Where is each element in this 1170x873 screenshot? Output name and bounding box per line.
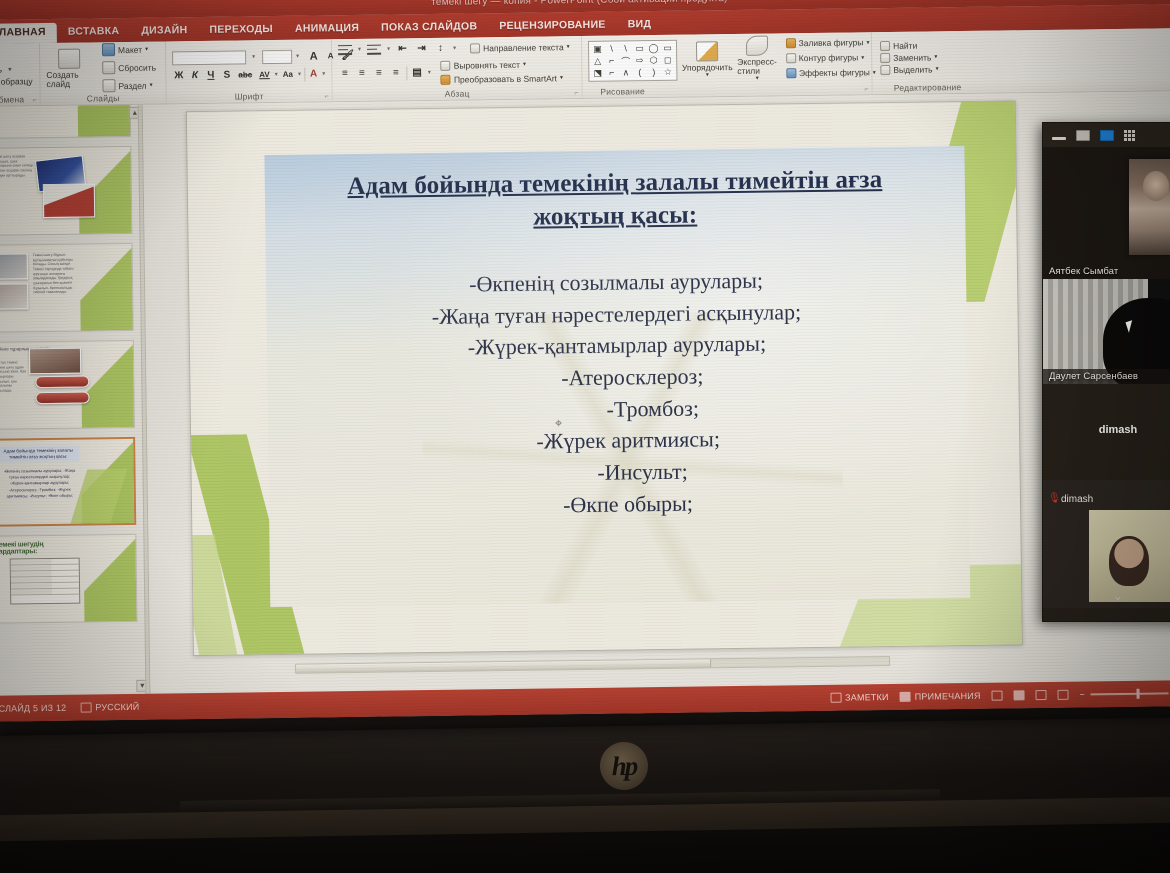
format-painter-button[interactable]: Формат по образцу: [0, 75, 35, 88]
thumb-body: Бір тал темекі Темекі шегу адам ағзасына…: [0, 360, 30, 393]
thumb-image-fingers: [29, 348, 81, 375]
font-size-input[interactable]: [262, 49, 292, 63]
comments-icon: [900, 692, 911, 702]
comments-button[interactable]: ПРИМЕЧАНИЯ: [900, 691, 981, 702]
thumb-body: Темекі шегу Мұрын-жұтқыншақтың қабынуы б…: [33, 253, 77, 296]
select-icon: [880, 64, 890, 74]
layout-icon: [102, 43, 115, 56]
arrange-icon: [696, 41, 718, 61]
view-reading-icon[interactable]: [1036, 690, 1047, 700]
align-center-icon[interactable]: ≡: [355, 66, 368, 80]
current-slide[interactable]: Адам бойында темекінің залалы тимейтін а…: [186, 100, 1023, 656]
numbering-icon[interactable]: [367, 43, 381, 55]
shape-arc-icon[interactable]: ⌐: [605, 68, 618, 79]
photo-of-laptop-screen: hp темекі шегу — копия - PowerPoint (Сбо…: [0, 0, 1170, 873]
group-label-editing: Редактирование: [873, 82, 983, 93]
participant-name-3: dimash: [1043, 424, 1170, 436]
font-name-input[interactable]: [172, 50, 246, 65]
reset-button[interactable]: Сбросить: [100, 60, 158, 76]
shape-oval-icon[interactable]: ◯: [647, 43, 660, 54]
slide-counter: СЛАЙД 5 ИЗ 12: [0, 703, 66, 714]
tab-slideshow[interactable]: ПОКАЗ СЛАЙДОВ: [370, 17, 488, 39]
layout-button[interactable]: Макет▾: [100, 42, 158, 58]
chevron-down-icon[interactable]: ⌄: [1043, 588, 1170, 604]
ribbon-group-font[interactable]: ▾ ▾ A A 🖌 Ж К Ч S abc AV ▾ Aa ▾: [166, 39, 333, 103]
thumb-image-stomach: [43, 183, 95, 218]
view-normal-icon[interactable]: [992, 691, 1003, 701]
underline-button[interactable]: Ч: [204, 68, 217, 82]
participant-tile-4[interactable]: 🎙 dimash ⌄: [1043, 480, 1170, 608]
view-slideshow-icon[interactable]: [1058, 690, 1069, 700]
tab-insert[interactable]: ВСТАВКА: [57, 22, 131, 43]
ribbon-group-editing[interactable]: Найти Заменить▾ Выделить▾ Редактирование: [872, 31, 983, 94]
grow-font-button[interactable]: A: [307, 49, 320, 63]
thumb-title: темекі шегудің зардаптары:: [0, 541, 86, 556]
shape-star-icon[interactable]: ☆: [661, 67, 674, 78]
arrange-button[interactable]: Упорядочить▾: [684, 41, 730, 79]
participant-name-1: Аятбек Сымбат: [1043, 264, 1124, 279]
font-dialog-launcher[interactable]: ⌐: [325, 93, 329, 100]
tab-home[interactable]: ГЛАВНАЯ: [0, 23, 57, 44]
thumb-image-lungs-2: [0, 283, 28, 309]
copy-button[interactable]: Копировать: [0, 63, 4, 76]
columns-icon[interactable]: ▤: [406, 66, 424, 80]
participant-name-2: Даулет Сарсенбаев: [1043, 369, 1170, 384]
align-right-icon[interactable]: ≡: [372, 66, 385, 80]
thumbnail-slide-6[interactable]: темекі шегудің зардаптары:: [0, 534, 138, 624]
zoom-track[interactable]: [1090, 692, 1168, 695]
thumb-decor-wedge: [77, 105, 130, 137]
quick-styles-button[interactable]: Экспресс-стили▾: [737, 36, 777, 83]
tab-transitions[interactable]: ПЕРЕХОДЫ: [198, 20, 284, 41]
section-icon: [102, 79, 115, 92]
find-button[interactable]: Найти: [878, 39, 919, 52]
drawing-dialog-launcher[interactable]: ⌐: [864, 86, 868, 93]
participant-video-1: [1129, 159, 1170, 255]
shape-freeform-icon[interactable]: ⬔: [591, 68, 604, 79]
align-left-icon[interactable]: ≡: [338, 67, 351, 81]
participant-tile-2[interactable]: Даулет Сарсенбаев: [1043, 279, 1170, 384]
character-spacing-button[interactable]: AV: [257, 68, 272, 82]
grid-view-icon[interactable]: [1124, 130, 1135, 141]
notes-icon: [830, 693, 841, 703]
italic-button[interactable]: К: [188, 68, 201, 82]
zoom-slider[interactable]: − +: [1080, 688, 1170, 699]
minimize-icon[interactable]: [1052, 137, 1066, 140]
video-conference-panel[interactable]: Аятбек Сымбат Даулет Сарсенбаев dimash 🎙…: [1042, 122, 1170, 622]
thumb-decor-wedge: [80, 244, 133, 331]
shape-outline-button[interactable]: Контур фигуры▾: [784, 52, 878, 65]
find-icon: [880, 40, 890, 50]
thumb-title: Адам бойында темекінің залалы тимейтін а…: [0, 446, 79, 463]
language-indicator[interactable]: РУССКИЙ: [80, 702, 139, 713]
thumb-image-artery-2: [35, 391, 89, 404]
video-panel-toolbar[interactable]: [1043, 123, 1170, 147]
participant-name-4: dimash: [1061, 494, 1093, 505]
shape-curve-icon[interactable]: ⌒: [619, 55, 632, 66]
thumb-body: -Өкпенің созылмалы аурулары; -Жаңа туған…: [1, 468, 77, 500]
shape-rect-icon[interactable]: ▭: [633, 43, 646, 54]
shape-angle-icon[interactable]: ∧: [619, 67, 632, 78]
shape-fill-icon: [785, 39, 795, 49]
font-color-button[interactable]: A: [304, 67, 319, 81]
shape-textbox-icon[interactable]: ▣: [591, 44, 604, 55]
decrease-indent-icon[interactable]: ⇤: [396, 42, 409, 56]
clipboard-dialog-launcher[interactable]: ⌐: [33, 97, 37, 104]
align-text-icon: [441, 60, 451, 70]
bullets-icon[interactable]: [338, 44, 352, 56]
quick-styles-icon: [746, 36, 768, 56]
thumb-body: Темекі шегу асқазан жарасына, ішек аурул…: [0, 154, 35, 178]
justify-icon[interactable]: ≡: [389, 66, 402, 80]
shape-effects-icon: [786, 69, 796, 79]
slide-bullet-list[interactable]: -Өкпенің созылмалы аурулары; -Жаңа туған…: [278, 262, 957, 524]
shape-arrow-right-icon[interactable]: ⇨: [633, 55, 646, 66]
shape-triangle-icon[interactable]: △: [591, 56, 604, 67]
zoom-knob[interactable]: [1136, 689, 1139, 699]
laptop-screen: темекі шегу — копия - PowerPoint (Сбой а…: [0, 0, 1170, 722]
text-direction-button[interactable]: Направление текста▾: [468, 41, 572, 54]
thumbnail-slide-2[interactable]: Темекі шегу асқазан жарасына, ішек аурул…: [0, 146, 132, 236]
shape-effects-button[interactable]: Эффекты фигуры▾: [784, 67, 878, 80]
shape-fill-button[interactable]: Заливка фигуры▾: [783, 37, 877, 50]
thumbnail-slide-4[interactable]: Зейінге тұрарлық эсерлері: Бір тал темек…: [0, 340, 135, 430]
change-case-button[interactable]: Aa: [281, 67, 295, 81]
notes-button[interactable]: ЗАМЕТКИ: [830, 692, 889, 703]
select-button[interactable]: Выделить▾: [878, 63, 940, 76]
replace-icon: [880, 52, 890, 62]
slide-title[interactable]: Адам бойында темекінің залалы тимейтін а…: [273, 162, 958, 237]
workspace: Қарағанды мемлекеттік медицина университ…: [0, 91, 1170, 696]
smartart-icon: [441, 74, 451, 84]
shape-paren-right-icon[interactable]: ): [647, 67, 660, 78]
group-label-slides: Слайды: [41, 92, 166, 104]
text-direction-icon: [470, 43, 480, 53]
shape-arrow-icon[interactable]: \: [619, 43, 632, 54]
ribbon-group-drawing[interactable]: ▣ \ \ ▭ ◯ ▭ △ ⌐ ⌒ ⇨ ⬡ ◻ ⬔ ⌐ ∧: [582, 32, 873, 98]
tab-review[interactable]: РЕЦЕНЗИРОВАНИЕ: [488, 16, 617, 38]
speaker-view-icon[interactable]: [1100, 130, 1114, 141]
mic-muted-icon: 🎙: [1048, 494, 1056, 504]
zoom-out-button[interactable]: −: [1080, 689, 1086, 699]
single-view-icon[interactable]: [1076, 130, 1090, 141]
thumb-table: [10, 558, 81, 605]
reset-icon: [102, 61, 115, 74]
replace-button[interactable]: Заменить▾: [878, 51, 939, 64]
thumbnail-slide-3[interactable]: Темекі шегу Мұрын-жұтқыншақтың қабынуы б…: [0, 243, 134, 333]
window-title: темекі шегу — копия - PowerPoint (Сбой а…: [431, 0, 727, 7]
shape-outline-icon: [786, 54, 796, 64]
shape-paren-left-icon[interactable]: (: [633, 67, 646, 78]
thumbnail-slide-5[interactable]: Адам бойында темекінің залалы тимейтін а…: [0, 437, 136, 527]
ribbon-group-clipboard[interactable]: Вставить Копировать▾ Формат по образцу Б…: [0, 43, 41, 106]
convert-smartart-button[interactable]: Преобразовать в SmartArt▾: [439, 72, 565, 86]
mouse-cursor-icon: ⌖: [555, 415, 565, 429]
align-text-button[interactable]: Выровнять текст▾: [439, 58, 565, 72]
thumb-image-lungs-1: [0, 253, 28, 279]
slide-title-line-1: Адам бойында темекінің залалы тимейтін а…: [347, 166, 882, 200]
shapes-gallery[interactable]: ▣ \ \ ▭ ◯ ▭ △ ⌐ ⌒ ⇨ ⬡ ◻ ⬔ ⌐ ∧: [588, 40, 678, 82]
view-sorter-icon[interactable]: [1014, 690, 1025, 700]
shape-pentagon-icon[interactable]: ⬡: [647, 55, 660, 66]
shape-square-icon[interactable]: ▭: [661, 43, 674, 54]
tab-animations[interactable]: АНИМАЦИЯ: [284, 19, 370, 40]
slide-content-area[interactable]: Адам бойында темекінің залалы тимейтін а…: [264, 146, 970, 607]
bold-button[interactable]: Ж: [172, 69, 185, 83]
ribbon-group-slides[interactable]: Создать слайд Макет▾ Сбросить: [40, 41, 167, 105]
thumb-image-artery-1: [35, 375, 89, 388]
horizontal-scrollbar[interactable]: [295, 656, 890, 674]
section-button[interactable]: Раздел▾: [100, 78, 158, 94]
tab-design[interactable]: ДИЗАЙН: [130, 21, 198, 42]
shape-callout-icon[interactable]: ◻: [661, 55, 674, 66]
shape-line-icon[interactable]: \: [605, 44, 618, 55]
increase-indent-icon[interactable]: ⇥: [415, 42, 428, 56]
participant-tile-3[interactable]: dimash: [1043, 384, 1170, 480]
group-label-font: Шрифт: [167, 90, 332, 102]
line-spacing-icon[interactable]: ↕: [434, 41, 447, 55]
shape-bracket-icon[interactable]: ⌐: [605, 56, 618, 67]
group-label-drawing: Рисование: [523, 85, 723, 98]
slide-stage[interactable]: Адам бойында темекінің залалы тимейтін а…: [143, 91, 1170, 694]
thumbnail-scroll-down-button[interactable]: ▼: [136, 680, 145, 692]
slide-thumbnail-pane[interactable]: Қарағанды мемлекеттік медицина университ…: [0, 105, 145, 696]
strikethrough-button[interactable]: abc: [236, 68, 254, 82]
participant-tile-1[interactable]: Аятбек Сымбат: [1043, 147, 1170, 279]
tab-view[interactable]: ВИД: [617, 15, 663, 36]
thumbnail-slide-1[interactable]: Қарағанды мемлекеттік медицина университ…: [0, 105, 131, 139]
thumb-decor-wedge: [83, 535, 136, 622]
text-shadow-button[interactable]: S: [220, 68, 233, 82]
new-slide-button[interactable]: Создать слайд: [46, 48, 93, 88]
thumb-decor-wedge: [81, 341, 134, 428]
language-icon: [80, 702, 91, 712]
new-slide-icon: [58, 48, 80, 68]
slide-title-line-2: жоқтың қасы:: [533, 202, 697, 231]
